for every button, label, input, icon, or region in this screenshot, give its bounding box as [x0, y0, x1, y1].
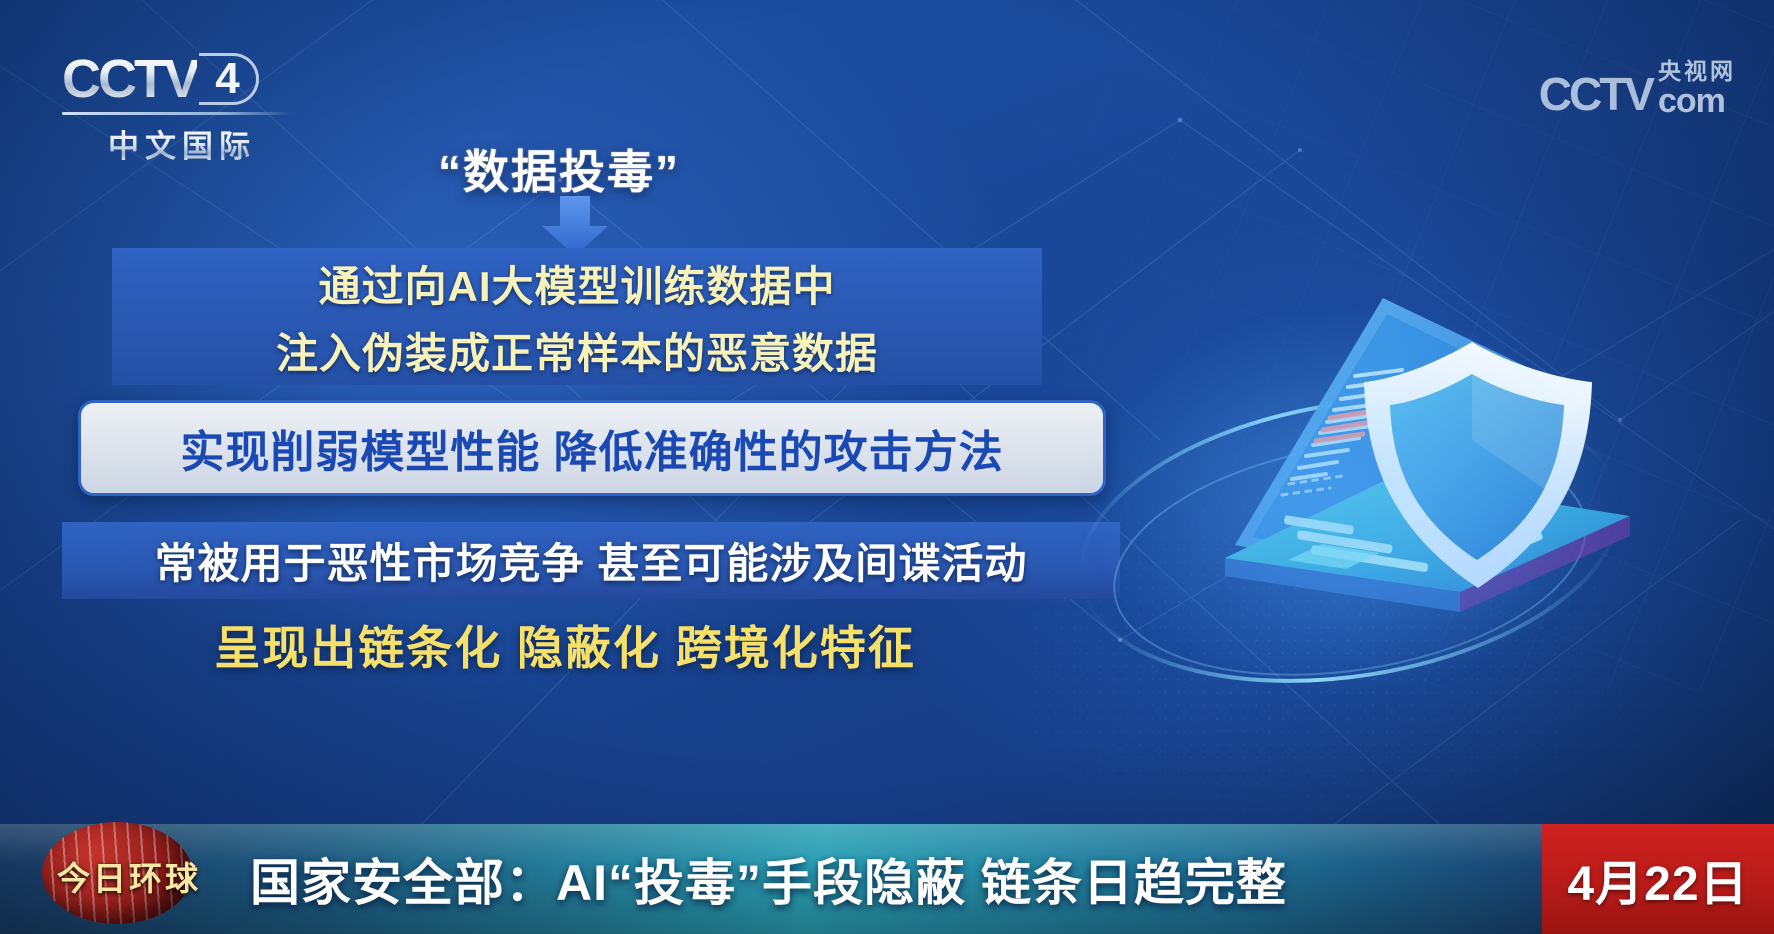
content-box-2: 实现削弱模型性能 降低准确性的攻击方法 — [78, 400, 1106, 496]
laptop-shield-illustration — [1030, 240, 1670, 710]
website-watermark: CCTV 央视网 com — [1539, 52, 1736, 121]
news-headline: 国家安全部：AI“投毒”手段隐蔽 链条日趋完整 — [250, 824, 1287, 934]
broadcast-date: 4月22日 — [1542, 824, 1774, 934]
lower-third-bar: 今日环球 国家安全部：AI“投毒”手段隐蔽 链条日趋完整 4月22日 — [0, 824, 1774, 934]
program-logo: 今日环球 — [28, 822, 224, 926]
content-box-1-line-1: 通过向AI大模型训练数据中 — [318, 253, 835, 314]
content-box-1: 通过向AI大模型训练数据中 注入伪装成正常样本的恶意数据 — [112, 248, 1042, 385]
logo-underline — [62, 112, 292, 115]
channel-name: 中文国际 — [62, 121, 302, 166]
content-box-1-line-2: 注入伪装成正常样本的恶意数据 — [276, 320, 878, 381]
program-name: 今日环球 — [36, 852, 222, 900]
content-box-3: 常被用于恶性市场竞争 甚至可能涉及间谍活动 — [62, 522, 1120, 599]
channel-number: 4 — [215, 57, 239, 101]
watermark-chinese-text: 央视网 — [1658, 52, 1736, 86]
channel-logo-text: CCTV — [62, 48, 197, 110]
channel-logo: CCTV 4 中文国际 — [62, 48, 312, 166]
artwork-glow — [1070, 300, 1630, 700]
graphic-kicker-title: “数据投毒” — [438, 136, 680, 202]
watermark-com-text: com — [1658, 82, 1725, 121]
content-box-2-line-1: 实现削弱模型性能 降低准确性的攻击方法 — [180, 416, 1003, 480]
channel-number-badge: 4 — [199, 53, 259, 105]
broadcast-frame: CCTV 4 中文国际 CCTV 央视网 com “数据投毒” 通过向AI大模型… — [0, 0, 1774, 934]
content-box-3-line-1: 常被用于恶性市场竞争 甚至可能涉及间谍活动 — [155, 530, 1028, 591]
graphic-footer-line: 呈现出链条化 隐蔽化 跨境化特征 — [0, 612, 1130, 678]
watermark-cctv-text: CCTV — [1539, 67, 1652, 121]
